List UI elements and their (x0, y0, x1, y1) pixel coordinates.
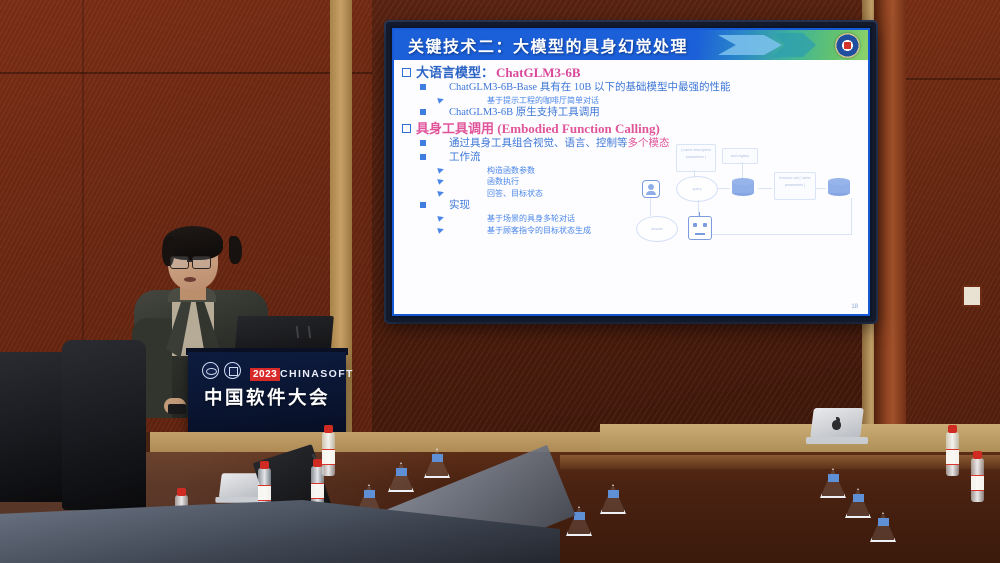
presenter-hair-side-right (229, 236, 242, 264)
wall-display[interactable]: 关键技术二：大模型的具身幻觉处理 大语言模型： ChatGLM3-6B Chat… (386, 22, 876, 322)
diagram-connector (718, 188, 730, 189)
laptop-base (806, 437, 868, 444)
organization-emblem-icon (224, 362, 241, 379)
slide-line: ChatGLM3-6B 原生支持工具调用 (402, 108, 868, 119)
slide-line-text: ChatGLM3-6B-Base 具有在 10B 以下的基础模型中最强的性能 (449, 83, 730, 94)
water-bottle[interactable] (971, 458, 984, 502)
slide-line-text: 大语言模型： (416, 66, 494, 79)
name-card-stand[interactable] (600, 484, 626, 514)
executive-chair[interactable] (62, 340, 146, 510)
diagram-connector (758, 188, 772, 189)
eyeglasses-bridge (187, 260, 192, 262)
diagram-label: tool registry (723, 153, 757, 160)
diagram-connector (742, 162, 743, 178)
slide-line-text: 构造函数参数 (487, 167, 535, 175)
slide-line: 基于提示工程的咖啡厅简单对话 (402, 97, 868, 105)
arrow-bullet-icon (437, 166, 445, 174)
diagram-answer-cloud: answer (636, 216, 678, 242)
diagram-function-call-box: function call { name parameters } (774, 172, 816, 200)
slide-line-text: 函数执行 (487, 178, 519, 186)
diagram-label: { name description parameters } (677, 147, 715, 161)
eyeglasses-lens-left (170, 256, 189, 269)
name-card-stand[interactable] (424, 448, 450, 478)
slide-line: ChatGLM3-6B-Base 具有在 10B 以下的基础模型中最强的性能 (402, 83, 868, 94)
diagram-connector (712, 234, 852, 235)
filled-square-bullet-icon (420, 154, 426, 160)
diagram-label: function call { name parameters } (775, 175, 815, 189)
filled-square-bullet-icon (420, 109, 426, 115)
diagram-connector (851, 198, 852, 234)
hollow-square-bullet-icon (402, 124, 411, 133)
podium-banner: 2023 CHINASOFT 中国软件大会 (188, 352, 346, 442)
arrow-bullet-icon (437, 177, 445, 185)
organization-seal-icon (202, 362, 219, 379)
name-card-stand[interactable] (388, 462, 414, 492)
slide-line-text: 基于提示工程的咖啡厅简单对话 (487, 97, 599, 105)
filled-square-bullet-icon (420, 84, 426, 90)
slide-header: 关键技术二：大模型的具身幻觉处理 (394, 30, 868, 60)
macbook-laptop[interactable] (806, 408, 866, 444)
institute-seal-icon (835, 33, 860, 58)
arrow-bullet-icon (437, 189, 445, 197)
diagram-database-icon-2 (828, 178, 850, 198)
arrow-bullet-icon (437, 214, 445, 222)
diagram-robot-icon (688, 216, 712, 240)
wall-pillar-right (874, 0, 908, 470)
diagram-label: query (677, 186, 717, 193)
slide-line-text: 基于顾客指令的目标状态生成 (487, 227, 591, 235)
slide-line-text: 实现 (449, 201, 470, 212)
slide-line-text: 基于场景的具身多轮对话 (487, 215, 575, 223)
podium-year: 2023 (250, 368, 280, 381)
wall-switch[interactable] (962, 285, 982, 307)
hollow-square-bullet-icon (402, 68, 411, 77)
presentation-slide: 关键技术二：大模型的具身幻觉处理 大语言模型： ChatGLM3-6B Chat… (394, 30, 868, 314)
architecture-diagram: { name description parameters } tool reg… (632, 142, 862, 252)
presenter-mouth (184, 277, 196, 282)
diagram-label: answer (637, 226, 677, 233)
slide-line: 大语言模型： ChatGLM3-6B (402, 66, 868, 79)
slide-line-text: 通过具身工具组合视觉、语言、控制等 (449, 139, 628, 150)
eyeglasses-lens-right (192, 256, 211, 269)
diagram-query-cloud: query (676, 176, 718, 202)
conference-room-scene: 关键技术二：大模型的具身幻觉处理 大语言模型： ChatGLM3-6B Chat… (0, 0, 1000, 563)
arrow-bullet-icon (437, 226, 445, 234)
slide-line-text: 回答、目标状态 (487, 190, 543, 198)
slide-line: 具身工具调用 (Embodied Function Calling) (402, 122, 868, 135)
display-panel: 关键技术二：大模型的具身幻觉处理 大语言模型： ChatGLM3-6B Chat… (392, 28, 870, 316)
diagram-tool-registry-box: tool registry (722, 148, 758, 164)
filled-square-bullet-icon (420, 202, 426, 208)
diagram-user-icon (642, 180, 660, 198)
diagram-connector (650, 198, 651, 216)
podium-brand-cn: 中国软件大会 (204, 384, 330, 410)
name-card-stand[interactable] (870, 512, 896, 542)
diagram-database-icon (732, 178, 754, 198)
podium-brand-en: CHINASOFT (280, 368, 354, 380)
arrow-bullet-icon (437, 96, 445, 104)
apple-logo-icon (832, 420, 841, 430)
wall-panel-right (906, 0, 1000, 470)
filled-square-bullet-icon (420, 140, 426, 146)
slide-line-text: 具身工具调用 (Embodied Function Calling) (416, 122, 660, 135)
name-card-stand[interactable] (845, 488, 871, 518)
diagram-connector (694, 170, 695, 178)
water-bottle[interactable] (946, 432, 959, 476)
slide-line-text: 工作流 (449, 153, 481, 164)
diagram-connector (698, 200, 699, 216)
slide-line-text: ChatGLM3-6B 原生支持工具调用 (449, 108, 600, 119)
slide-line-highlight: ChatGLM3-6B (496, 66, 581, 79)
slide-title: 关键技术二：大模型的具身幻觉处理 (408, 33, 688, 57)
name-card-stand[interactable] (820, 468, 846, 498)
diagram-tool-schema-box: { name description parameters } (676, 144, 716, 172)
diagram-connector (816, 188, 826, 189)
handheld-remote (168, 404, 186, 414)
slide-page-number: 18 (851, 304, 858, 310)
